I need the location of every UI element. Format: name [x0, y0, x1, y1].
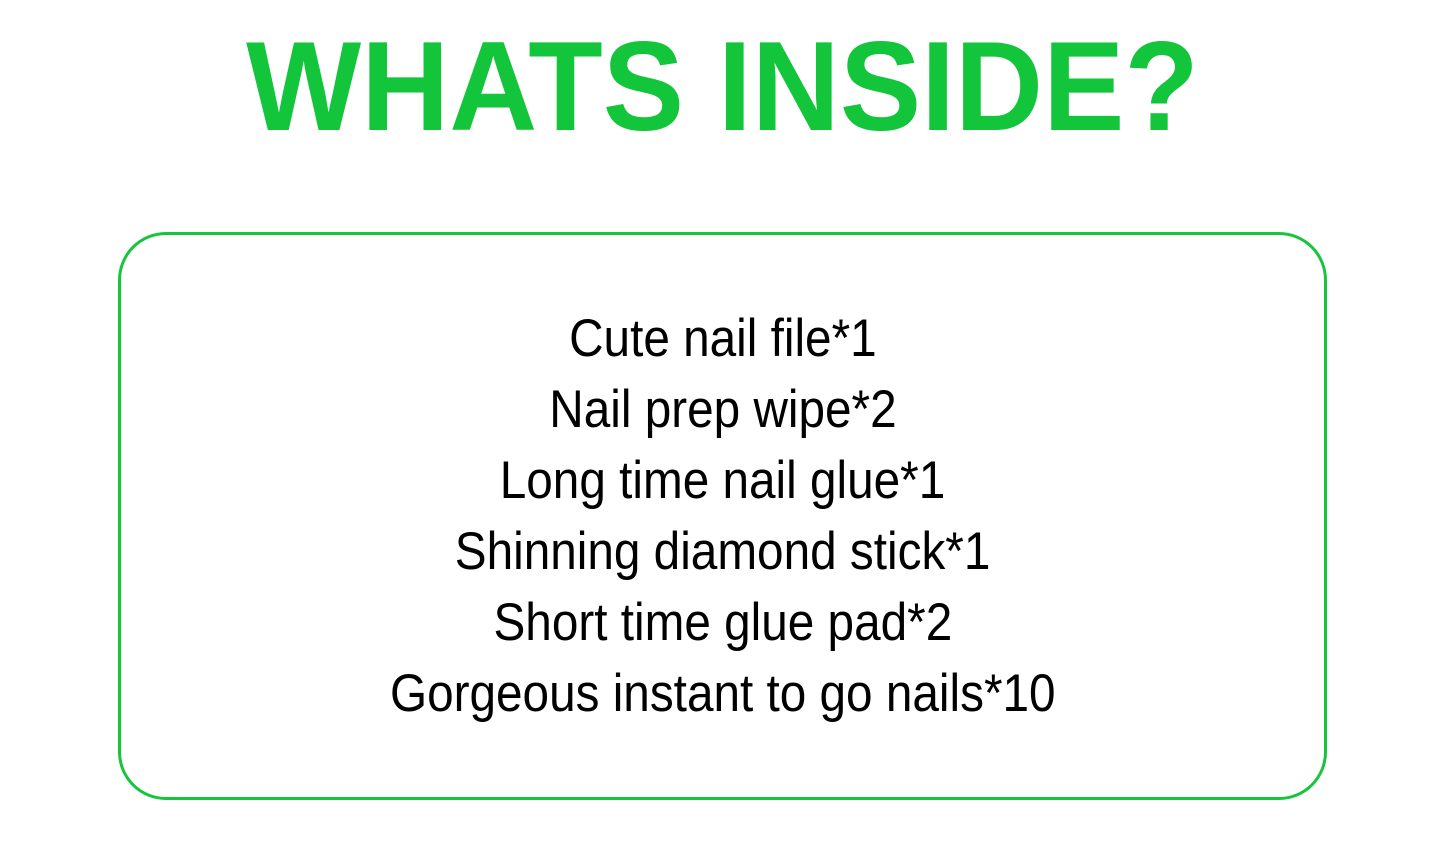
- list-item: Cute nail file*1: [569, 303, 877, 374]
- contents-list: Cute nail file*1 Nail prep wipe*2 Long t…: [121, 235, 1324, 797]
- list-item: Short time glue pad*2: [493, 587, 952, 658]
- list-item: Shinning diamond stick*1: [455, 516, 991, 587]
- list-item: Nail prep wipe*2: [549, 374, 896, 445]
- page-title: WHATS INSIDE?: [29, 18, 1416, 155]
- whats-inside-slide: WHATS INSIDE? Cute nail file*1 Nail prep…: [0, 0, 1445, 861]
- contents-card: Cute nail file*1 Nail prep wipe*2 Long t…: [118, 232, 1327, 800]
- list-item: Gorgeous instant to go nails*10: [390, 658, 1056, 729]
- list-item: Long time nail glue*1: [500, 445, 946, 516]
